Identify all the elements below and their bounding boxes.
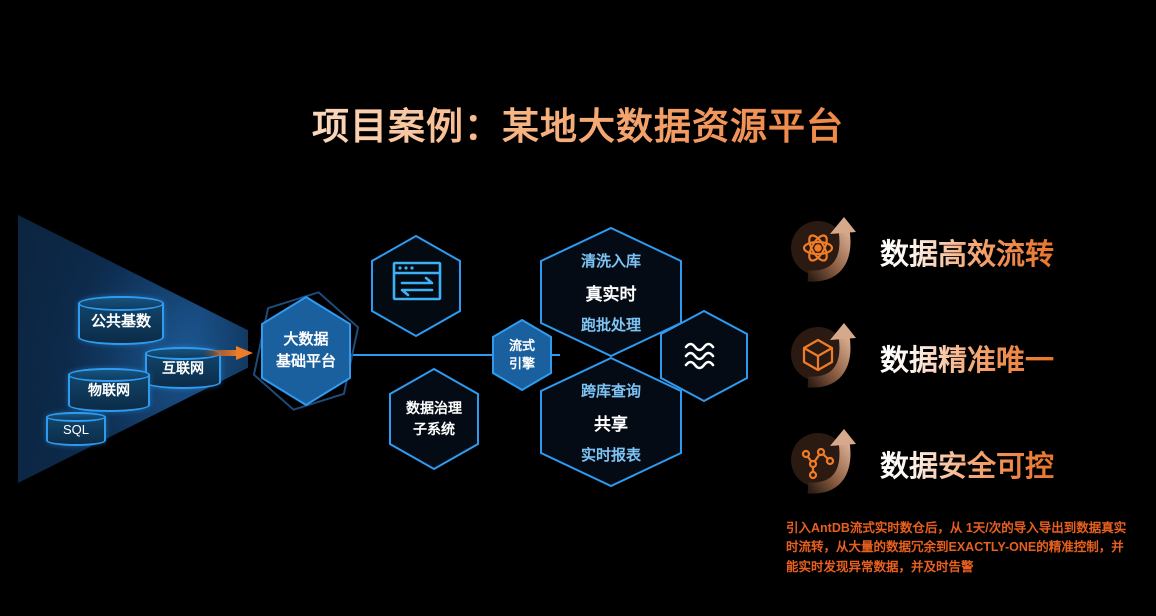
cylinder-shape: 公共基数 — [78, 296, 164, 345]
source-db-sql[interactable]: SQL — [46, 412, 106, 446]
source-db-public[interactable]: 公共基数 — [78, 296, 164, 345]
source-db-label: 物联网 — [88, 380, 130, 400]
atom-icon — [788, 216, 864, 288]
page-title: 项目案例：某地大数据资源平台 — [0, 96, 1156, 150]
cylinder-shape: 物联网 — [68, 368, 150, 412]
footer-summary-note: 引入AntDB流式实时数仓后，从 1天/次的导入导出到数据真实时流转，从大量的数… — [786, 519, 1134, 577]
node-big-data-platform[interactable]: 大数据 基础平台 — [258, 295, 354, 407]
feature-label: 数据安全可控 — [880, 443, 1054, 485]
node-data-lake[interactable] — [658, 309, 750, 403]
node-data-exchange[interactable] — [369, 234, 463, 338]
slide-canvas: 项目案例：某地大数据资源平台 公共基数 互联网 物联网 SQL — [0, 0, 1156, 616]
cube-icon — [788, 322, 864, 394]
node-data-governance[interactable]: 数据治理 子系统 — [387, 367, 481, 471]
source-db-iot[interactable]: 物联网 — [68, 368, 150, 412]
node-graph-icon — [788, 428, 864, 500]
feature-label: 数据高效流转 — [880, 231, 1054, 273]
cylinder-shape: SQL — [46, 412, 106, 446]
source-db-label: 公共基数 — [91, 310, 151, 331]
feature-label: 数据精准唯一 — [880, 337, 1054, 379]
source-db-label: 互联网 — [162, 358, 204, 378]
source-db-label: SQL — [63, 422, 89, 437]
flow-arrow-icon — [203, 345, 255, 361]
